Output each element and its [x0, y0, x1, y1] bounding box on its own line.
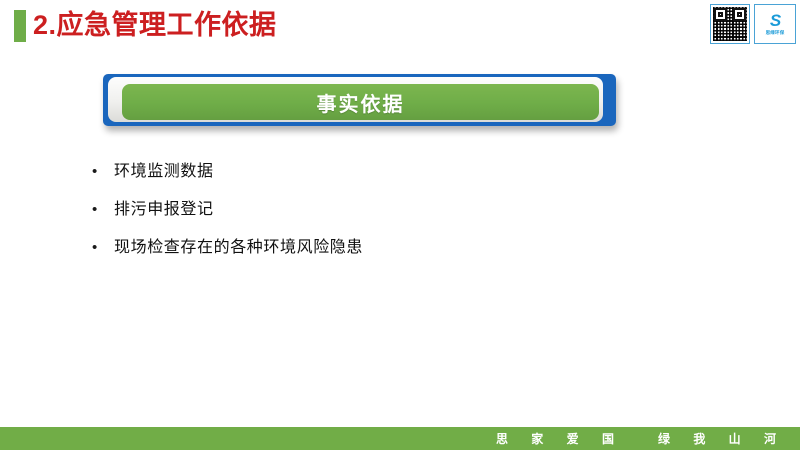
- qr-code-icon[interactable]: [710, 4, 750, 44]
- list-item-label: 环境监测数据: [114, 160, 214, 184]
- qr-code-pattern: [713, 7, 747, 41]
- slide-footer: 思 家 爱 国 绿 我 山 河: [0, 427, 800, 450]
- page-title: 2.应急管理工作依据: [33, 7, 277, 43]
- footer-slogan-left: 思 家 爱 国: [496, 430, 624, 447]
- list-item: • 现场检查存在的各种环境风险隐患: [92, 236, 732, 260]
- list-item-label: 排污申报登记: [114, 198, 214, 222]
- bullet-list: • 环境监测数据 • 排污申报登记 • 现场检查存在的各种环境风险隐患: [92, 160, 732, 274]
- slide: 2.应急管理工作依据 S 思绿环保 事实依据 • 环境监测数据: [0, 0, 800, 450]
- banner-inner-frame: 事实依据: [108, 77, 603, 122]
- list-item-label: 现场检查存在的各种环境风险隐患: [114, 236, 363, 260]
- header-badges: S 思绿环保: [710, 4, 796, 44]
- list-item: • 排污申报登记: [92, 198, 732, 222]
- bullet-dot-icon: •: [92, 236, 114, 260]
- banner-title: 事实依据: [317, 88, 405, 117]
- title-accent-bar: [14, 10, 26, 42]
- bullet-dot-icon: •: [92, 198, 114, 222]
- slide-header: 2.应急管理工作依据 S 思绿环保: [0, 0, 800, 52]
- logo-mark-icon: S: [770, 13, 780, 29]
- section-banner: 事实依据: [103, 74, 616, 126]
- banner-fill: 事实依据: [122, 84, 599, 120]
- banner-outer-frame: 事实依据: [103, 74, 616, 126]
- footer-slogans: 思 家 爱 国 绿 我 山 河: [496, 427, 786, 450]
- logo-caption: 思绿环保: [766, 30, 785, 36]
- company-logo[interactable]: S 思绿环保: [754, 4, 796, 44]
- list-item: • 环境监测数据: [92, 160, 732, 184]
- bullet-dot-icon: •: [92, 160, 114, 184]
- footer-slogan-right: 绿 我 山 河: [658, 430, 786, 447]
